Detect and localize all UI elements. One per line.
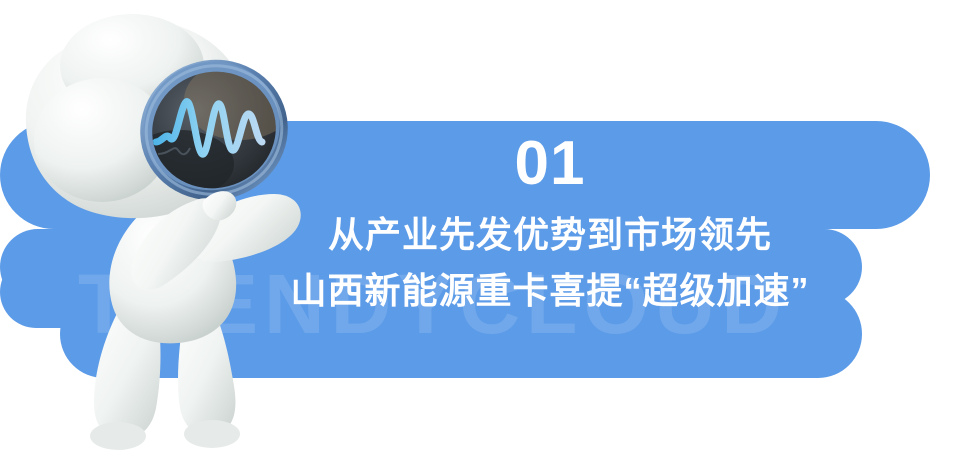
mascot-foot-back bbox=[90, 422, 146, 450]
banner-slide: TRENDYCLOUD 01 从产业先发优势到市场领先 山西新能源重卡喜提“超级… bbox=[0, 0, 961, 467]
mascot-svg bbox=[0, 4, 350, 464]
cloud-robot-mascot bbox=[0, 4, 350, 464]
mascot-foot-front bbox=[184, 420, 240, 448]
